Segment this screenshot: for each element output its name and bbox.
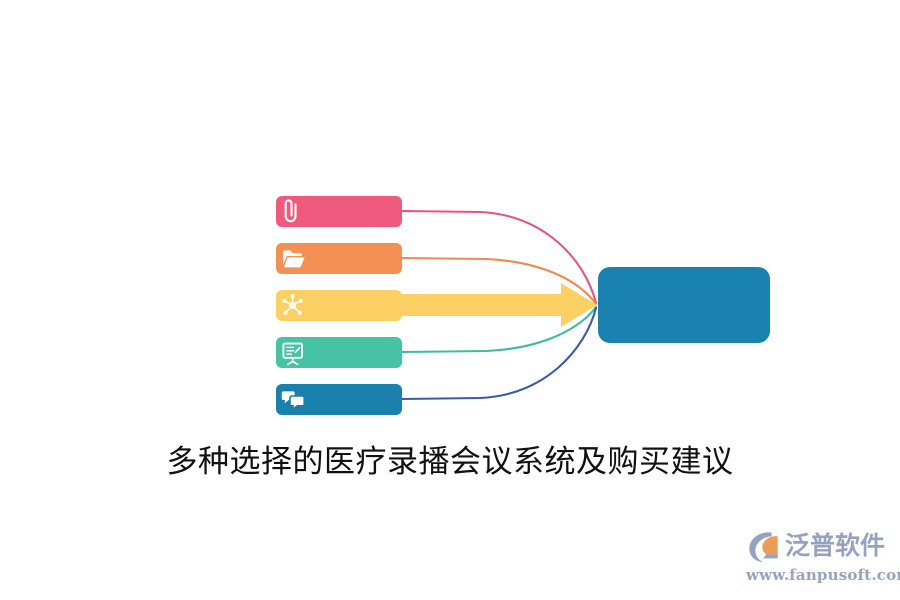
target-box[interactable]	[598, 267, 770, 343]
item-bar-4[interactable]	[276, 337, 402, 368]
watermark-brand-name: 泛普软件	[785, 528, 885, 564]
item-bar-3[interactable]	[276, 290, 402, 321]
item-bar-5[interactable]	[276, 384, 402, 415]
watermark-brand-row: 泛普软件	[746, 526, 888, 566]
arrow-shaft-and-head	[390, 283, 597, 327]
page-canvas: 多种选择的医疗录播会议系统及购买建议 泛普软件 www.fanpusoft.co…	[0, 0, 900, 600]
connector-arrow-3	[390, 283, 597, 327]
item-bar-2[interactable]	[276, 243, 402, 274]
watermark-url: www.fanpusoft.com	[746, 566, 888, 584]
infographic-diagram	[0, 0, 900, 600]
fanpu-logo-icon	[746, 528, 782, 564]
watermark: 泛普软件 www.fanpusoft.com	[746, 526, 888, 588]
item-bar-1[interactable]	[276, 196, 402, 227]
page-title: 多种选择的医疗录播会议系统及购买建议	[0, 441, 900, 483]
target-box-rect[interactable]	[598, 267, 770, 343]
